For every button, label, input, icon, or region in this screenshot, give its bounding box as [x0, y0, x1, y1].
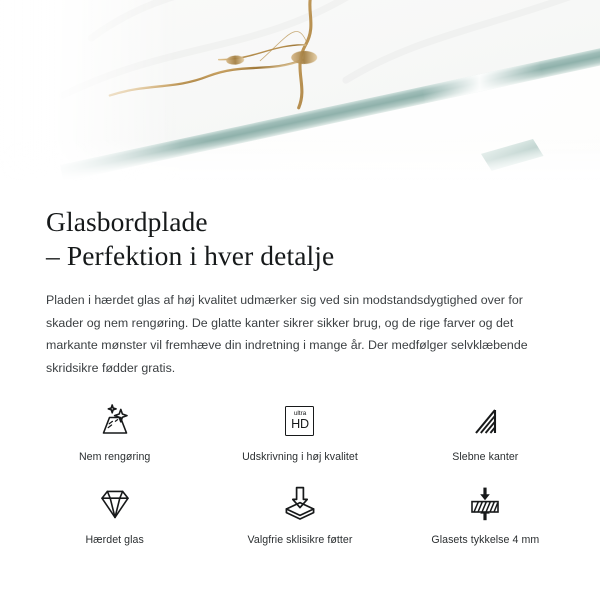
ultra-hd-icon: ultra HD	[285, 400, 314, 442]
feature-label: Slebne kanter	[452, 451, 518, 464]
feature-easy-cleaning: Nem rengøring	[22, 400, 207, 483]
hero-bottom-fade	[0, 140, 600, 198]
copy-block: Glasbordplade – Perfektion i hver detalj…	[46, 205, 558, 379]
sparkle-tabletop-icon	[95, 400, 135, 442]
diamond-icon	[94, 483, 136, 525]
feature-label: Glasets tykkelse 4 mm	[431, 534, 539, 547]
non-slip-feet-icon	[280, 483, 320, 525]
feature-grid: Nem rengøring ultra HD Udskrivning i høj…	[22, 400, 578, 566]
polished-edges-icon	[467, 400, 503, 442]
ultra-hd-bottom-text: HD	[291, 418, 309, 431]
feature-label: Udskrivning i høj kvalitet	[242, 451, 358, 464]
feature-label: Hærdet glas	[85, 534, 143, 547]
page-title: Glasbordplade – Perfektion i hver detalj…	[46, 205, 558, 273]
product-info-page: Glasbordplade – Perfektion i hver detalj…	[0, 0, 600, 600]
feature-high-quality-print: ultra HD Udskrivning i høj kvalitet	[207, 400, 392, 483]
feature-polished-edges: Slebne kanter	[393, 400, 578, 483]
feature-tempered-glass: Hærdet glas	[22, 483, 207, 566]
feature-label: Nem rengøring	[79, 451, 150, 464]
feature-optional-nonslip-feet: Valgfrie sklisikre føtter	[207, 483, 392, 566]
thickness-arrows-icon	[463, 483, 507, 525]
description-paragraph: Pladen i hærdet glas af høj kvalitet udm…	[46, 289, 550, 379]
feature-glass-thickness: Glasets tykkelse 4 mm	[393, 483, 578, 566]
feature-label: Valgfrie sklisikre føtter	[248, 534, 353, 547]
hero-product-image	[0, 0, 600, 198]
